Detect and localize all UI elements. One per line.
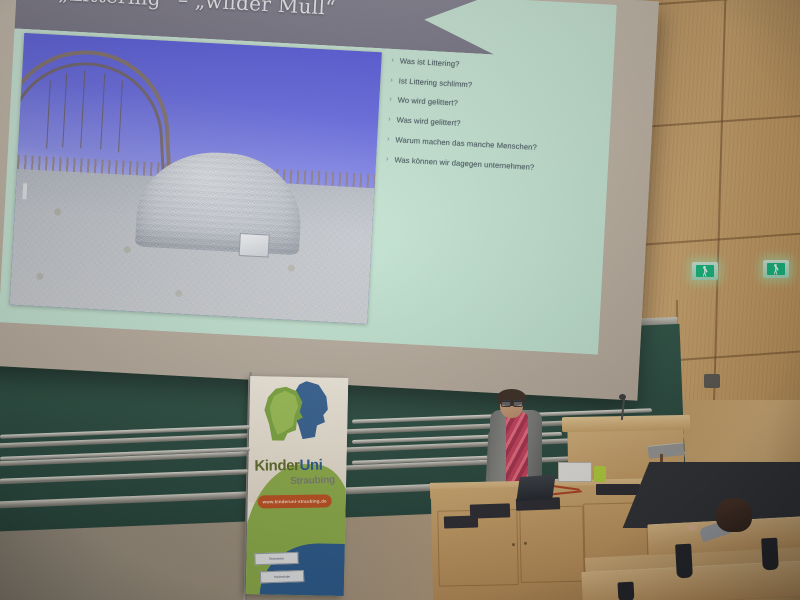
audience-member — [716, 498, 752, 532]
bullet-marker-icon: › — [386, 155, 389, 164]
bullet-marker-icon: › — [388, 116, 391, 125]
presenter-laptop — [516, 475, 555, 502]
wall-socket — [704, 374, 720, 388]
list-item: ›Was können wir dagegen unternehmen? — [386, 155, 586, 175]
projection-screen-frame: ℂ „Littering“ – „wilder Müll“ — [0, 0, 659, 401]
folded-seat — [761, 538, 779, 571]
photo-post — [23, 183, 28, 199]
presentation-slide: ℂ „Littering“ – „wilder Müll“ — [0, 0, 617, 355]
equipment-tray — [596, 484, 640, 495]
bullet-marker-icon: › — [387, 136, 390, 145]
banner-city-label: Straubing — [290, 475, 335, 487]
bullet-text: Wo wird gelittert? — [397, 97, 458, 109]
bullet-marker-icon: › — [390, 77, 393, 86]
banner-wordmark: KinderUni — [254, 456, 344, 475]
banner-word-kinder: Kinder — [254, 457, 299, 475]
bullet-text: Warum machen das manche Menschen? — [395, 136, 537, 152]
projection-screen: ℂ „Littering“ – „wilder Müll“ — [0, 0, 617, 355]
slide-bullet-list: ›Was ist Littering? ›Ist Littering schli… — [385, 57, 591, 186]
podium-top — [562, 415, 690, 432]
running-man-icon — [774, 264, 779, 275]
bullet-text: Was können wir dagegen unternehmen? — [394, 156, 534, 172]
list-item: ›Was wird gelittert? — [388, 116, 588, 136]
speaker-scarf — [506, 412, 528, 486]
banner-word-uni: Uni — [299, 457, 322, 474]
equipment-box — [558, 462, 592, 482]
emergency-exit-sign — [692, 262, 718, 280]
audience-hand — [688, 524, 697, 531]
lecture-hall-photo: ℂ „Littering“ – „wilder Müll“ — [0, 0, 800, 600]
slide-photo-littering — [10, 33, 382, 324]
green-equipment — [594, 466, 606, 482]
running-man-icon — [703, 266, 708, 277]
list-item: ›Was ist Littering? — [391, 57, 591, 77]
folded-seat — [617, 582, 634, 600]
list-item: ›Ist Littering schlimm? — [390, 77, 590, 97]
list-item: ›Wo wird gelittert? — [389, 96, 589, 116]
bullet-marker-icon: › — [389, 96, 392, 105]
control-panel — [444, 515, 478, 528]
folded-seat — [675, 544, 693, 579]
bullet-text: Ist Littering schlimm? — [398, 77, 472, 90]
banner-sponsor-label: Technische — [254, 552, 298, 565]
emergency-exit-sign — [763, 260, 789, 278]
bullet-text: Was ist Littering? — [400, 57, 460, 69]
list-item: ›Warum machen das manche Menschen? — [387, 136, 587, 156]
kinderuni-banner: KinderUni Straubing www.kinderuni-straub… — [246, 376, 349, 596]
bullet-marker-icon: › — [391, 57, 394, 66]
photo-discarded-item — [238, 233, 270, 258]
microphone-icon — [619, 394, 626, 400]
speaker-glasses-bridge — [501, 401, 522, 406]
bullet-text: Was wird gelittert? — [396, 116, 460, 128]
banner-url: www.kinderuni-straubing.de — [258, 494, 332, 508]
banner-sponsor-label: Hochschule — [260, 570, 304, 583]
